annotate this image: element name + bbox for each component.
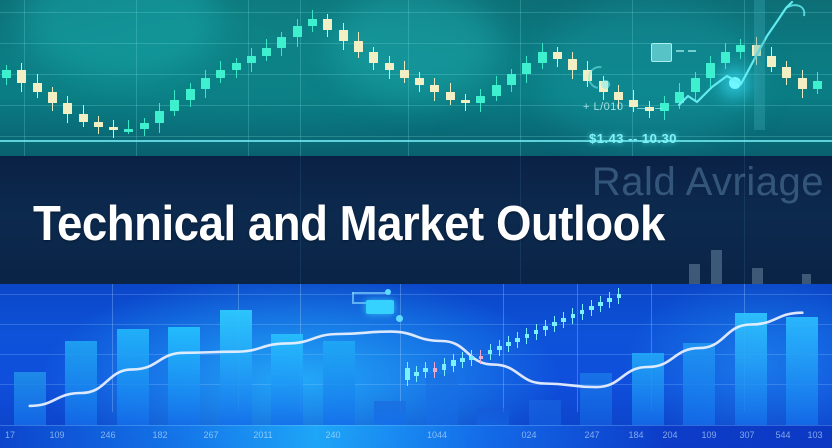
mini-candle-body — [607, 298, 612, 302]
mini-candlestick — [598, 296, 603, 312]
candle-body — [170, 100, 179, 111]
mini-candle-body — [414, 372, 419, 376]
ghost-candle — [711, 250, 722, 286]
top-baseline — [0, 140, 832, 142]
top-candle-series — [0, 0, 832, 158]
candlestick — [94, 116, 103, 134]
candlestick — [216, 61, 225, 83]
axis-tick-label: 240 — [325, 430, 340, 440]
candle-body — [553, 52, 562, 59]
mini-candlestick — [414, 366, 419, 382]
mini-candle-body — [451, 360, 456, 366]
indicator-label: + L/010 — [583, 101, 624, 113]
axis-tick-label: 184 — [628, 430, 643, 440]
indicator-trailing-dash — [655, 108, 662, 109]
mini-candle-body — [598, 302, 603, 306]
candlestick — [308, 10, 317, 32]
candlestick — [140, 118, 149, 136]
glow-node-icon — [729, 77, 741, 89]
top-vertical-band — [754, 0, 765, 130]
mini-candlestick — [442, 358, 447, 376]
candlestick — [461, 94, 470, 110]
axis-tick-label: 109 — [701, 430, 716, 440]
axis-tick-label: 1044 — [427, 430, 447, 440]
candlestick — [109, 120, 118, 138]
candle-body — [2, 70, 11, 77]
candlestick — [645, 101, 654, 117]
mini-candlestick — [515, 332, 520, 348]
candlestick — [767, 47, 776, 73]
candle-body — [155, 111, 164, 124]
candle-body — [568, 59, 577, 70]
candle-body — [124, 129, 133, 132]
axis-tick-label: 024 — [521, 430, 536, 440]
mini-candlestick — [525, 328, 530, 344]
mini-candlestick — [469, 350, 474, 366]
candlestick — [79, 105, 88, 127]
candle-body — [354, 41, 363, 52]
mini-candlestick — [534, 324, 539, 340]
candlestick — [323, 14, 332, 38]
candle-body — [706, 63, 715, 78]
arc-gauge-dot-icon — [601, 80, 610, 89]
mini-candlestick — [552, 316, 557, 332]
candlestick — [170, 90, 179, 116]
top-candlestick-panel: + L/010 $1.43 -- 10.30 — [0, 0, 832, 158]
axis-tick-label: 267 — [203, 430, 218, 440]
candlestick — [553, 47, 562, 67]
legend-square-icon — [651, 43, 672, 62]
candle-body — [385, 63, 394, 70]
mini-candle-body — [534, 330, 539, 334]
candle-body — [492, 85, 501, 96]
candlestick — [293, 19, 302, 46]
candle-body — [507, 74, 516, 85]
bottom-bar-chart-panel: 1710924618226720112401044024247184204109… — [0, 284, 832, 448]
market-outlook-banner: + L/010 $1.43 -- 10.30 Rald Avriage Tech… — [0, 0, 832, 448]
mini-candlestick — [607, 292, 612, 308]
indicator-trailing-dash — [637, 108, 651, 109]
candle-body — [216, 70, 225, 77]
candle-body — [293, 26, 302, 37]
candlestick — [507, 69, 516, 93]
candle-body — [48, 92, 57, 103]
mini-candlestick — [488, 344, 493, 360]
candlestick — [675, 83, 684, 109]
page-title: Technical and Market Outlook — [33, 196, 665, 252]
candle-body — [232, 63, 241, 70]
candlestick — [522, 56, 531, 83]
candlestick — [446, 83, 455, 105]
candle-body — [33, 83, 42, 92]
candlestick — [17, 63, 26, 92]
mini-candle-body — [460, 358, 465, 362]
legend-dash-icon — [688, 50, 696, 52]
candlestick — [706, 56, 715, 87]
candlestick — [492, 76, 501, 102]
candlestick — [691, 72, 700, 99]
mini-candlestick — [617, 288, 622, 304]
mini-candle-body — [506, 342, 511, 346]
mini-candle-body — [479, 356, 484, 359]
candle-body — [94, 122, 103, 127]
candle-body — [339, 30, 348, 41]
mini-candlestick — [433, 362, 438, 378]
candlestick — [385, 56, 394, 80]
axis-tick-label: 2011 — [253, 430, 272, 440]
mini-candle-body — [405, 368, 410, 380]
candlestick — [721, 43, 730, 69]
mini-candle-body — [497, 346, 502, 350]
mini-candlestick — [561, 312, 566, 328]
candle-body — [782, 67, 791, 78]
candle-wick — [128, 120, 129, 135]
candlestick — [247, 48, 256, 72]
candle-body — [308, 19, 317, 26]
candlestick — [798, 70, 807, 97]
candle-body — [415, 78, 424, 85]
candlestick — [629, 90, 638, 112]
candlestick — [63, 96, 72, 123]
mini-candle-body — [543, 326, 548, 330]
axis-tick-label: 544 — [775, 430, 790, 440]
candle-body — [446, 92, 455, 99]
axis-tick-label: 204 — [662, 430, 677, 440]
candlestick — [277, 32, 286, 56]
axis-tick-label: 246 — [100, 430, 115, 440]
mini-candlestick — [423, 362, 428, 378]
candle-body — [522, 63, 531, 74]
bottom-axis-strip: 1710924618226720112401044024247184204109… — [0, 425, 832, 448]
candle-body — [798, 78, 807, 89]
candle-body — [629, 100, 638, 107]
mini-candlestick — [580, 304, 585, 320]
axis-tick-label: 109 — [49, 430, 64, 440]
mini-candle-body — [488, 350, 493, 354]
candle-body — [767, 56, 776, 67]
candle-body — [614, 92, 623, 99]
bottom-candle-series — [0, 284, 832, 448]
candle-body — [461, 100, 470, 104]
mini-candle-body — [552, 322, 557, 326]
candlestick — [430, 78, 439, 102]
candlestick — [476, 89, 485, 113]
candle-body — [79, 114, 88, 121]
candlestick — [124, 120, 133, 135]
axis-tick-label: 307 — [739, 430, 754, 440]
candlestick — [262, 39, 271, 61]
candle-body — [369, 52, 378, 63]
mini-candlestick — [451, 354, 456, 372]
candle-body — [675, 92, 684, 103]
mini-candlestick — [543, 320, 548, 336]
candle-body — [323, 19, 332, 30]
mini-candlestick — [405, 362, 410, 386]
axis-tick-label: 182 — [152, 430, 167, 440]
candlestick — [369, 47, 378, 71]
candle-body — [691, 78, 700, 93]
candlestick — [538, 43, 547, 69]
candle-body — [813, 81, 822, 88]
candle-body — [476, 96, 485, 103]
candlestick — [354, 32, 363, 58]
mini-candlestick — [571, 308, 576, 324]
candlestick — [400, 61, 409, 83]
mini-candle-body — [589, 306, 594, 310]
candle-body — [736, 45, 745, 52]
candlestick — [186, 83, 195, 107]
candle-body — [17, 70, 26, 83]
candlestick — [201, 70, 210, 97]
axis-tick-label: 247 — [584, 430, 599, 440]
axis-tick-labels: 1710924618226720112401044024247184204109… — [0, 426, 832, 448]
mini-candle-body — [515, 338, 520, 342]
candlestick — [2, 65, 11, 85]
mini-candle-body — [525, 334, 530, 338]
candle-body — [63, 103, 72, 114]
candlestick — [48, 87, 57, 111]
candlestick — [415, 72, 424, 92]
mini-candlestick — [506, 336, 511, 352]
candlestick — [813, 72, 822, 94]
axis-tick-label: 17 — [5, 430, 15, 440]
candle-body — [430, 85, 439, 92]
candle-body — [660, 103, 669, 110]
mini-candlestick — [589, 300, 594, 316]
candlestick — [782, 61, 791, 85]
mini-candle-body — [442, 364, 447, 370]
mini-candle-body — [617, 294, 622, 298]
candle-body — [262, 48, 271, 55]
candle-body — [186, 89, 195, 100]
price-label: $1.43 -- 10.30 — [589, 131, 677, 146]
candle-body — [140, 123, 149, 128]
candle-body — [109, 127, 118, 130]
mini-candlestick — [497, 340, 502, 356]
mini-candlestick — [460, 352, 465, 368]
candle-body — [538, 52, 547, 63]
mini-candle-body — [433, 368, 438, 372]
candlestick — [232, 58, 241, 78]
candle-body — [721, 52, 730, 63]
ghost-candle — [689, 264, 700, 286]
mini-candle-body — [423, 368, 428, 372]
candlestick — [155, 103, 164, 132]
candle-body — [247, 56, 256, 63]
candlestick — [736, 39, 745, 59]
candle-body — [201, 78, 210, 89]
mini-candle-body — [561, 318, 566, 322]
axis-tick-label: 103 — [807, 430, 822, 440]
candle-body — [400, 70, 409, 77]
candlestick — [568, 52, 577, 79]
candle-body — [277, 37, 286, 48]
candlestick — [33, 74, 42, 98]
mini-candlestick — [479, 350, 484, 364]
mini-candle-body — [571, 314, 576, 318]
candlestick — [339, 23, 348, 50]
mini-candle-body — [469, 356, 474, 360]
mini-candle-body — [580, 310, 585, 314]
legend-dash-icon — [676, 50, 684, 52]
